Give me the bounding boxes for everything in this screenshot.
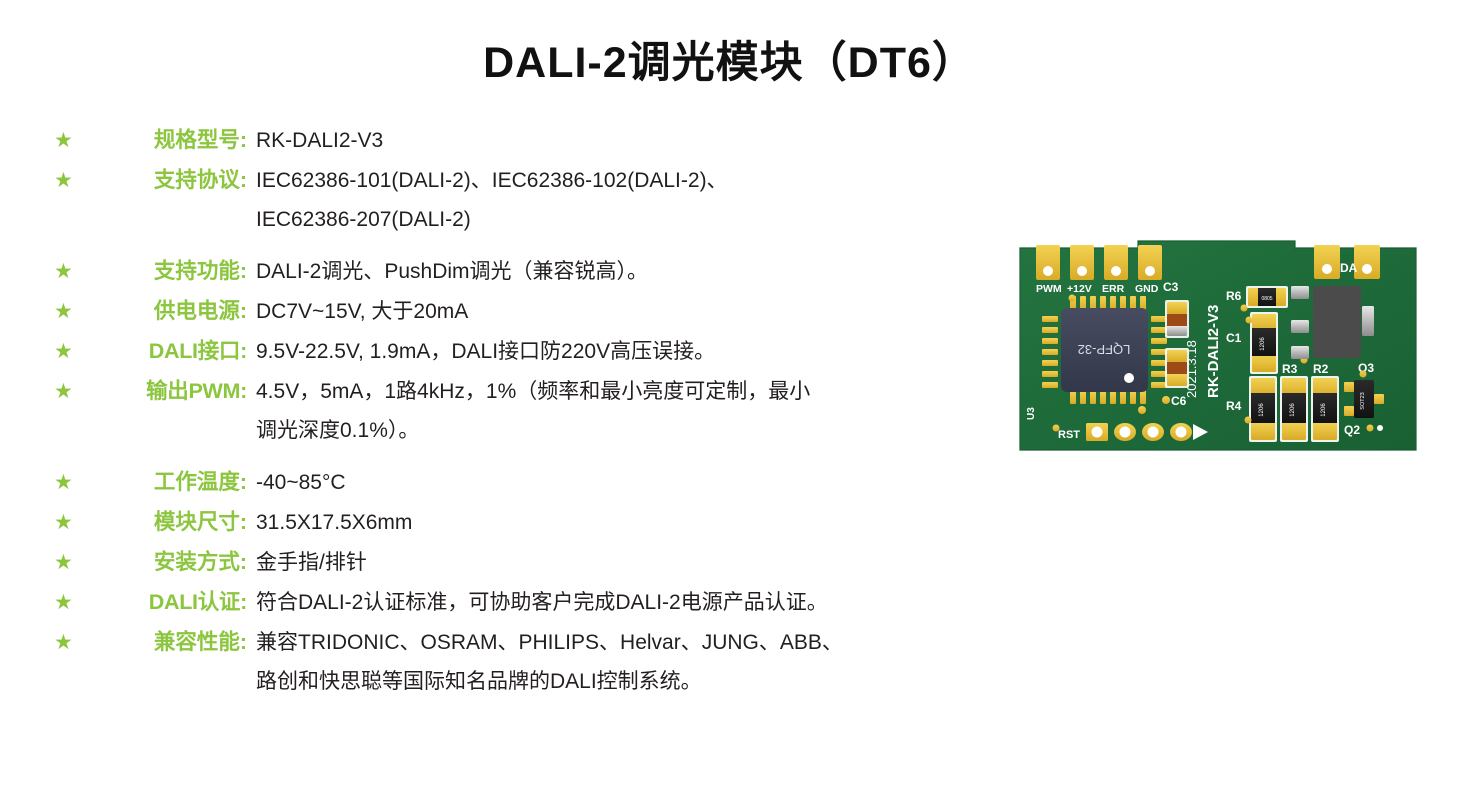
spec-row-protocol: ★ 支持协议: IEC62386-101(DALI-2)、IEC62386-10… bbox=[52, 162, 982, 238]
spec-value-line: 金手指/排针 bbox=[256, 544, 982, 581]
spec-value-compatibility: 兼容TRIDONIC、OSRAM、PHILIPS、Helvar、JUNG、ABB… bbox=[247, 624, 982, 700]
board-name-silkscreen: RK-DALI2-V3 bbox=[1205, 305, 1222, 398]
spec-value-line: 9.5V-22.5V, 1.9mA，DALI接口防220V高压误接。 bbox=[256, 333, 982, 370]
page-title: DALI-2调光模块（DT6） bbox=[0, 28, 1459, 90]
pad-label-err: ERR bbox=[1102, 283, 1125, 295]
spec-value-line: 4.5V，5mA，1路4kHz，1%（频率和最小亮度可定制，最小 bbox=[256, 373, 982, 410]
board-date-silkscreen: 2021.3.18 bbox=[1184, 340, 1199, 398]
star-icon: ★ bbox=[52, 584, 92, 621]
part-code: 1206 bbox=[1260, 337, 1266, 351]
spec-value-dimensions: 31.5X17.5X6mm bbox=[247, 504, 982, 541]
star-icon: ★ bbox=[52, 122, 92, 159]
component-label-r6: R6 bbox=[1226, 289, 1242, 303]
pad-label-pwm: PWM bbox=[1036, 283, 1062, 295]
star-icon: ★ bbox=[52, 333, 92, 370]
spec-label-operating-temperature: 工作温度: bbox=[92, 464, 247, 501]
spec-value-dali-certification: 符合DALI-2认证标准，可协助客户完成DALI-2电源产品认证。 bbox=[247, 584, 982, 621]
spec-value-power-supply: DC7V~15V, 大于20mA bbox=[247, 293, 982, 330]
spec-value-line: DC7V~15V, 大于20mA bbox=[256, 293, 982, 330]
spec-value-function: DALI-2调光、PushDim调光（兼容锐高）。 bbox=[247, 253, 982, 290]
part-code: SOT23 bbox=[1360, 392, 1366, 409]
spec-value-model: RK-DALI2-V3 bbox=[247, 122, 982, 159]
component-label-q2: Q2 bbox=[1344, 423, 1360, 437]
spec-label-power-supply: 供电电源: bbox=[92, 293, 247, 330]
component-label-r4: R4 bbox=[1226, 399, 1242, 413]
spec-row-compatibility: ★ 兼容性能: 兼容TRIDONIC、OSRAM、PHILIPS、Helvar、… bbox=[52, 624, 982, 700]
spec-row-power-supply: ★ 供电电源: DC7V~15V, 大于20mA bbox=[52, 293, 982, 330]
star-icon: ★ bbox=[52, 373, 92, 410]
spec-label-function: 支持功能: bbox=[92, 253, 247, 290]
star-icon: ★ bbox=[52, 464, 92, 501]
spec-row-dimensions: ★ 模块尺寸: 31.5X17.5X6mm bbox=[52, 504, 982, 541]
spec-row-pwm-output: ★ 输出PWM: 4.5V，5mA，1路4kHz，1%（频率和最小亮度可定制，最… bbox=[52, 373, 982, 449]
star-icon: ★ bbox=[52, 544, 92, 581]
spec-row-mounting: ★ 安装方式: 金手指/排针 bbox=[52, 544, 982, 581]
part-code: 0805 bbox=[1261, 296, 1272, 302]
rst-label: RST bbox=[1058, 429, 1080, 441]
star-icon: ★ bbox=[52, 504, 92, 541]
specification-list: ★ 规格型号: RK-DALI2-V3 ★ 支持协议: IEC62386-101… bbox=[52, 122, 982, 703]
star-icon: ★ bbox=[52, 293, 92, 330]
pad-label-da: DA bbox=[1340, 261, 1358, 275]
spec-value-dali-interface: 9.5V-22.5V, 1.9mA，DALI接口防220V高压误接。 bbox=[247, 333, 982, 370]
spec-value-operating-temperature: -40~85°C bbox=[247, 464, 982, 501]
chip-label: LQFP-32 bbox=[1078, 342, 1131, 357]
spec-row-function: ★ 支持功能: DALI-2调光、PushDim调光（兼容锐高）。 bbox=[52, 253, 982, 290]
spec-row-operating-temperature: ★ 工作温度: -40~85°C bbox=[52, 464, 982, 501]
spec-value-line: 路创和快思聪等国际知名品牌的DALI控制系统。 bbox=[256, 663, 982, 700]
component-label-c1: C1 bbox=[1226, 331, 1242, 345]
spec-value-mounting: 金手指/排针 bbox=[247, 544, 982, 581]
spec-value-line: RK-DALI2-V3 bbox=[256, 122, 982, 159]
part-code: 1206 bbox=[1259, 403, 1265, 417]
spec-value-line: 调光深度0.1%）。 bbox=[256, 412, 982, 449]
spec-value-line: IEC62386-207(DALI-2) bbox=[256, 201, 982, 238]
star-icon: ★ bbox=[52, 253, 92, 290]
pcb-illustration: PWM +12V ERR GND DA bbox=[1018, 238, 1418, 458]
spec-value-line: DALI-2调光、PushDim调光（兼容锐高）。 bbox=[256, 253, 982, 290]
star-icon: ★ bbox=[52, 624, 92, 661]
spec-row-dali-interface: ★ DALI接口: 9.5V-22.5V, 1.9mA，DALI接口防220V高… bbox=[52, 333, 982, 370]
spec-value-pwm-output: 4.5V，5mA，1路4kHz，1%（频率和最小亮度可定制，最小 调光深度0.1… bbox=[247, 373, 982, 449]
spec-row-model: ★ 规格型号: RK-DALI2-V3 bbox=[52, 122, 982, 159]
spec-label-dali-interface: DALI接口: bbox=[92, 333, 247, 370]
spec-value-line: 兼容TRIDONIC、OSRAM、PHILIPS、Helvar、JUNG、ABB… bbox=[256, 624, 982, 661]
component-label-c3: C3 bbox=[1163, 280, 1179, 294]
part-code: 1206 bbox=[1290, 403, 1296, 417]
spec-row-dali-certification: ★ DALI认证: 符合DALI-2认证标准，可协助客户完成DALI-2电源产品… bbox=[52, 584, 982, 621]
component-label-r3: R3 bbox=[1282, 362, 1298, 376]
spec-label-pwm-output: 输出PWM: bbox=[92, 373, 247, 410]
spec-label-mounting: 安装方式: bbox=[92, 544, 247, 581]
spec-label-protocol: 支持协议: bbox=[92, 162, 247, 199]
pad-label-gnd: GND bbox=[1135, 283, 1159, 295]
spec-value-protocol: IEC62386-101(DALI-2)、IEC62386-102(DALI-2… bbox=[247, 162, 982, 238]
spec-value-line: 31.5X17.5X6mm bbox=[256, 504, 982, 541]
pad-label-12v: +12V bbox=[1067, 283, 1092, 295]
pcb-product-image: PWM +12V ERR GND DA bbox=[1018, 238, 1418, 458]
spec-label-model: 规格型号: bbox=[92, 122, 247, 159]
spec-value-line: 符合DALI-2认证标准，可协助客户完成DALI-2电源产品认证。 bbox=[256, 584, 982, 621]
part-code: 1206 bbox=[1321, 403, 1327, 417]
spec-label-dali-certification: DALI认证: bbox=[92, 584, 247, 621]
component-label-r2: R2 bbox=[1313, 362, 1329, 376]
spec-label-dimensions: 模块尺寸: bbox=[92, 504, 247, 541]
spec-label-compatibility: 兼容性能: bbox=[92, 624, 247, 661]
spec-value-line: IEC62386-101(DALI-2)、IEC62386-102(DALI-2… bbox=[256, 162, 982, 199]
spec-sheet-page: DALI-2调光模块（DT6） ★ 规格型号: RK-DALI2-V3 ★ 支持… bbox=[0, 0, 1459, 792]
star-icon: ★ bbox=[52, 162, 92, 199]
chip-ref-u3: U3 bbox=[1026, 407, 1037, 420]
spec-value-line: -40~85°C bbox=[256, 464, 982, 501]
